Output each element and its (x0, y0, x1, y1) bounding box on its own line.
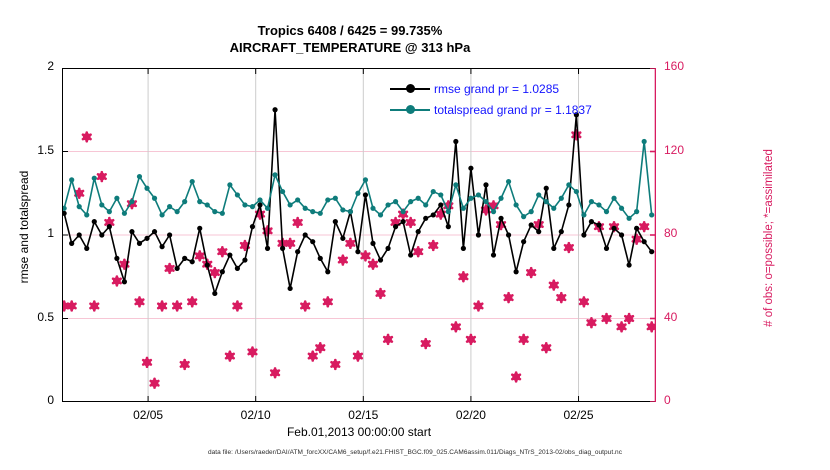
series-point (242, 202, 247, 207)
series-point (468, 166, 473, 171)
series-point (303, 232, 308, 237)
series-point (589, 219, 594, 224)
title-line-1: Tropics 6408 / 6425 = 99.735% (0, 22, 700, 39)
series-point (272, 172, 277, 177)
series-point (401, 209, 406, 214)
y-tick-right-0: 0 (664, 393, 712, 407)
series-point (325, 269, 330, 274)
x-tick-0: 02/05 (113, 408, 183, 422)
series-point (288, 202, 293, 207)
x-axis-label: Feb.01,2013 00:00:00 start (62, 425, 656, 439)
series-point (144, 236, 149, 241)
series-point (514, 202, 519, 207)
series-point (325, 197, 330, 202)
series-point (212, 209, 217, 214)
series-point (596, 222, 601, 227)
series-point (514, 269, 519, 274)
series-point (536, 192, 541, 197)
series-point (363, 192, 368, 197)
series-point (122, 211, 127, 216)
series-point (137, 174, 142, 179)
series-point (182, 199, 187, 204)
legend-item-rmse: rmse grand pr = 1.0285 (390, 78, 640, 99)
series-point (333, 196, 338, 201)
series-point (69, 177, 74, 182)
series-point (498, 216, 503, 221)
series-point (559, 196, 564, 201)
series-point (363, 177, 368, 182)
series-point (536, 229, 541, 234)
series-point (220, 211, 225, 216)
y-tick-left-4: 2 (6, 59, 54, 73)
series-point (152, 229, 157, 234)
series-point (423, 202, 428, 207)
series-point (167, 232, 172, 237)
series-point (159, 244, 164, 249)
series-point (205, 202, 210, 207)
series-point (235, 192, 240, 197)
series-point (107, 224, 112, 229)
series-line-totalspread (64, 141, 652, 218)
series-point (476, 192, 481, 197)
y-tick-right-3: 120 (664, 143, 712, 157)
series-point (197, 226, 202, 231)
series-point (431, 212, 436, 217)
x-tick-3: 02/20 (436, 408, 506, 422)
series-point (280, 246, 285, 251)
series-point (385, 246, 390, 251)
series-point (566, 182, 571, 187)
legend-marker-rmse (406, 84, 415, 93)
series-point (227, 182, 232, 187)
series-point (340, 236, 345, 241)
series-point (205, 262, 210, 267)
series-point (581, 232, 586, 237)
y-tick-left-2: 1 (6, 226, 54, 240)
series-point (626, 262, 631, 267)
series-point (611, 196, 616, 201)
series-point (159, 212, 164, 217)
series-point (491, 252, 496, 257)
series-point (453, 182, 458, 187)
series-point (649, 212, 654, 217)
chart-legend: rmse grand pr = 1.0285 totalspread grand… (390, 78, 640, 120)
series-point (220, 269, 225, 274)
series-point (596, 202, 601, 207)
series-point (197, 199, 202, 204)
series-point (468, 196, 473, 201)
series-point (521, 214, 526, 219)
legend-label-totalspread: totalspread grand pr = 1.1837 (434, 100, 592, 121)
series-point (129, 229, 134, 234)
series-point (551, 246, 556, 251)
series-point (461, 206, 466, 211)
series-point (280, 189, 285, 194)
series-point (250, 224, 255, 229)
series-point (649, 249, 654, 254)
series-point (235, 266, 240, 271)
series-point (272, 107, 277, 112)
series-point (574, 189, 579, 194)
series-point (295, 249, 300, 254)
series-point (551, 206, 556, 211)
series-point (355, 249, 360, 254)
series-point (348, 209, 353, 214)
series-point (416, 196, 421, 201)
series-point (99, 202, 104, 207)
series-point (370, 206, 375, 211)
x-tick-1: 02/10 (221, 408, 291, 422)
data-file-footer: data file: /Users/raeder/DAI/ATM_forcXX/… (0, 449, 830, 456)
series-point (619, 232, 624, 237)
series-point (318, 256, 323, 261)
series-point (99, 232, 104, 237)
series-point (521, 239, 526, 244)
series-point (250, 204, 255, 209)
series-point (544, 199, 549, 204)
legend-label-rmse: rmse grand pr = 1.0285 (434, 79, 559, 100)
series-point (175, 209, 180, 214)
series-line-rmse (64, 110, 652, 294)
y-tick-right-4: 160 (664, 59, 712, 73)
y-tick-right-2: 80 (664, 226, 712, 240)
y-tick-left-0: 0 (6, 393, 54, 407)
series-point (167, 204, 172, 209)
series-point (190, 179, 195, 184)
series-point (642, 239, 647, 244)
series-point (212, 291, 217, 296)
series-point (265, 206, 270, 211)
series-point (92, 176, 97, 181)
series-point (438, 202, 443, 207)
series-point (506, 179, 511, 184)
series-point (544, 186, 549, 191)
series-point (506, 232, 511, 237)
series-point (265, 246, 270, 251)
page-title: Tropics 6408 / 6425 = 99.735% AIRCRAFT_T… (0, 22, 700, 56)
series-point (634, 209, 639, 214)
series-point (318, 211, 323, 216)
series-point (385, 202, 390, 207)
series-point (491, 209, 496, 214)
y-tick-left-1: 0.5 (6, 310, 54, 324)
series-point (431, 189, 436, 194)
title-line-2: AIRCRAFT_TEMPERATURE @ 313 hPa (0, 39, 700, 56)
series-point (122, 279, 127, 284)
series-point (393, 224, 398, 229)
series-point (257, 197, 262, 202)
series-point (483, 199, 488, 204)
series-point (355, 191, 360, 196)
y-tick-left-3: 1.5 (6, 143, 54, 157)
series-point (498, 196, 503, 201)
series-point (408, 252, 413, 257)
series-point (634, 226, 639, 231)
series-point (611, 226, 616, 231)
series-point (446, 209, 451, 214)
series-point (310, 209, 315, 214)
series-point (114, 196, 119, 201)
legend-marker-totalspread (406, 105, 415, 114)
series-point (107, 209, 112, 214)
series-point (144, 186, 149, 191)
series-point (604, 246, 609, 251)
series-point (182, 256, 187, 261)
series-point (393, 199, 398, 204)
x-tick-2: 02/15 (328, 408, 398, 422)
series-point (378, 257, 383, 262)
y-tick-right-1: 40 (664, 310, 712, 324)
series-point (589, 199, 594, 204)
series-point (438, 192, 443, 197)
series-point (152, 196, 157, 201)
series-point (333, 219, 338, 224)
x-tick-4: 02/25 (544, 408, 614, 422)
series-point (401, 219, 406, 224)
series-point (604, 209, 609, 214)
series-point (559, 229, 564, 234)
series-point (408, 199, 413, 204)
series-point (84, 212, 89, 217)
series-point (416, 229, 421, 234)
series-point (619, 206, 624, 211)
series-point (77, 204, 82, 209)
series-point (288, 286, 293, 291)
series-point (476, 232, 481, 237)
series-point (529, 222, 534, 227)
series-point (566, 202, 571, 207)
legend-item-totalspread: totalspread grand pr = 1.1837 (390, 99, 640, 120)
series-point (69, 241, 74, 246)
series-point (295, 197, 300, 202)
series-point (310, 239, 315, 244)
series-point (227, 252, 232, 257)
series-point (446, 224, 451, 229)
series-point (581, 212, 586, 217)
series-point (423, 216, 428, 221)
series-point (84, 246, 89, 251)
series-point (114, 256, 119, 261)
series-point (461, 246, 466, 251)
series-point (483, 182, 488, 187)
series-point (378, 212, 383, 217)
series-point (303, 206, 308, 211)
series-point (77, 232, 82, 237)
series-point (642, 139, 647, 144)
series-point (190, 259, 195, 264)
series-point (529, 209, 534, 214)
series-point (626, 216, 631, 221)
chart-page: Tropics 6408 / 6425 = 99.735% AIRCRAFT_T… (0, 0, 830, 470)
series-point (453, 139, 458, 144)
y-axis-right-label: # of obs: o=possible; *=assimilated (763, 88, 775, 388)
series-point (175, 266, 180, 271)
series-point (92, 219, 97, 224)
series-point (242, 257, 247, 262)
series-point (129, 199, 134, 204)
series-point (340, 207, 345, 212)
series-point (370, 241, 375, 246)
series-point (137, 241, 142, 246)
